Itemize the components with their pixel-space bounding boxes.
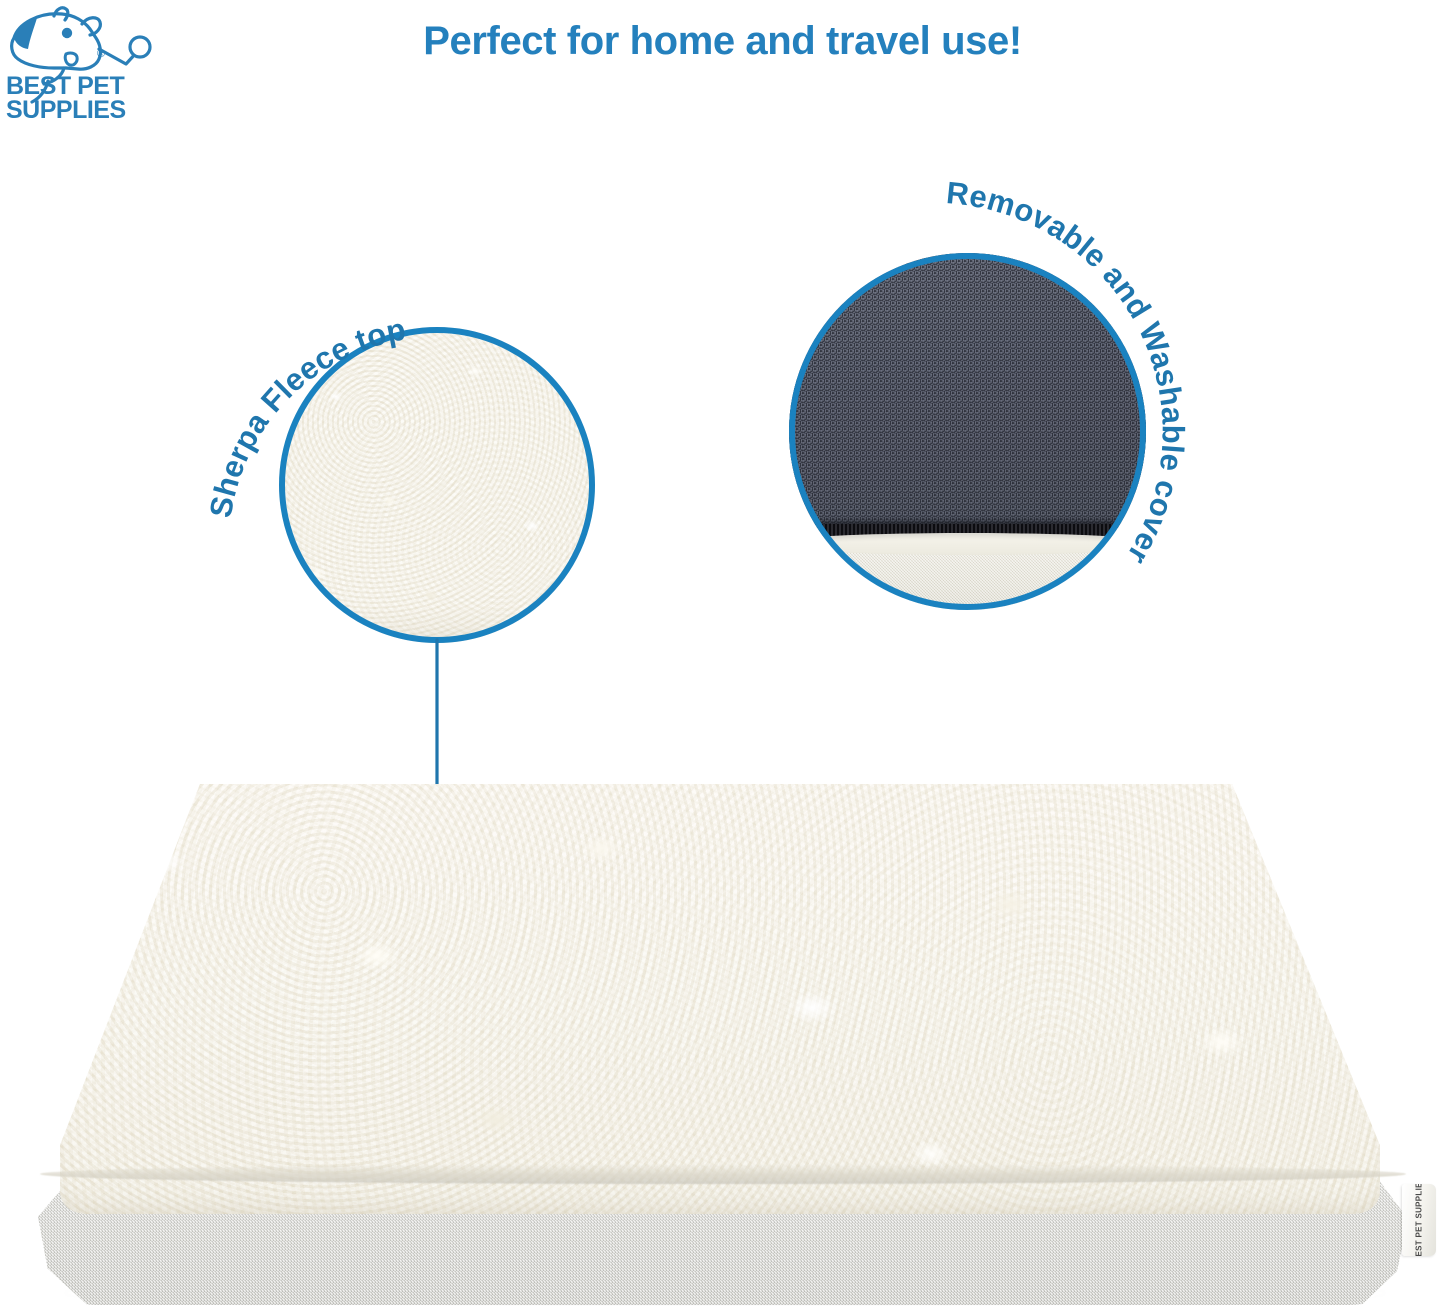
brand-name-line2: SUPPLIES bbox=[6, 96, 126, 124]
sherpa-fleece-swatch bbox=[279, 327, 595, 643]
product-brand-tag: BEST PET SUPPLIES bbox=[1402, 1184, 1436, 1256]
callout-label-sherpa-fleece-top: Sherpa Fleece top bbox=[0, 0, 1445, 760]
bed-fleece-top bbox=[60, 784, 1380, 1214]
page-headline: Perfect for home and travel use! bbox=[0, 20, 1445, 62]
mesh-cover-swatch bbox=[789, 253, 1146, 610]
callout-label-removable-washable-cover: Removable and Washable cover bbox=[0, 0, 1445, 760]
bed-seam bbox=[40, 1164, 1406, 1184]
brand-tag-text: BEST PET SUPPLIES bbox=[1414, 1184, 1423, 1256]
product-dog-bed bbox=[0, 760, 1445, 1292]
